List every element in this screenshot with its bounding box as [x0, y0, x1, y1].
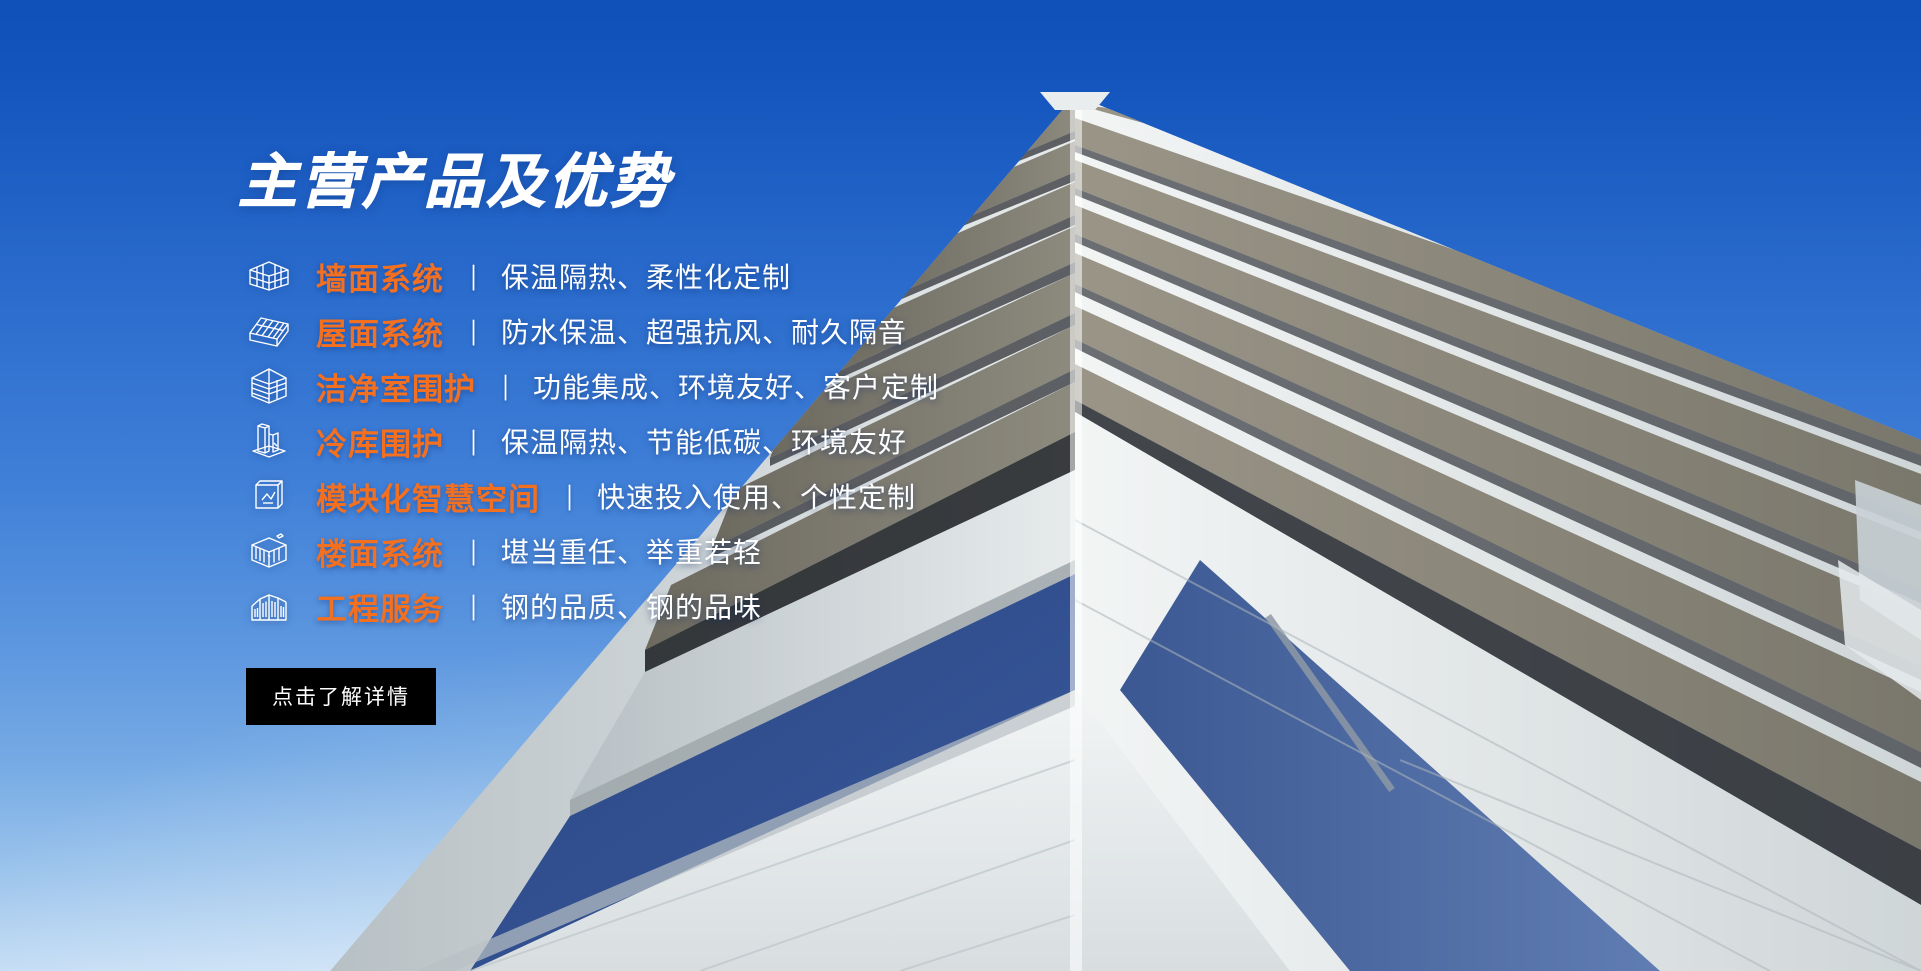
cleanroom-building-icon — [246, 363, 292, 409]
floor-module-icon — [246, 528, 292, 574]
list-item-title: 墙面系统 — [316, 254, 444, 299]
learn-more-button[interactable]: 点击了解详情 — [246, 668, 436, 725]
list-item[interactable]: 墙面系统 丨 保温隔热、柔性化定制 — [236, 249, 1156, 304]
list-item-title: 冷库围护 — [316, 419, 444, 464]
list-item-separator: 丨 — [466, 587, 481, 626]
factory-cluster-icon — [246, 583, 292, 629]
list-item-title: 工程服务 — [316, 584, 444, 629]
list-item-desc: 保温隔热、柔性化定制 — [501, 256, 791, 296]
hero-banner: 主营产品及优势 墙面系统 丨 保温隔热、柔性化定制 — [0, 0, 1921, 971]
list-item-desc: 钢的品质、钢的品味 — [501, 586, 762, 626]
list-item-separator: 丨 — [466, 422, 481, 461]
cold-storage-icon — [246, 418, 292, 464]
list-item-desc: 堪当重任、举重若轻 — [501, 531, 762, 571]
list-item-desc: 快速投入使用、个性定制 — [597, 476, 916, 516]
list-item-desc: 保温隔热、节能低碳、环境友好 — [501, 421, 907, 461]
list-item-separator: 丨 — [498, 367, 513, 406]
page-title: 主营产品及优势 — [238, 150, 1156, 215]
list-item[interactable]: 洁净室围护 丨 功能集成、环境友好、客户定制 — [236, 359, 1156, 414]
hero-content: 主营产品及优势 墙面系统 丨 保温隔热、柔性化定制 — [236, 150, 1156, 725]
list-item[interactable]: 屋面系统 丨 防水保温、超强抗风、耐久隔音 — [236, 304, 1156, 359]
list-item-separator: 丨 — [466, 312, 481, 351]
wall-panel-icon — [246, 253, 292, 299]
list-item-title: 洁净室围护 — [316, 364, 476, 409]
list-item-title: 楼面系统 — [316, 529, 444, 574]
list-item[interactable]: 冷库围护 丨 保温隔热、节能低碳、环境友好 — [236, 414, 1156, 469]
list-item[interactable]: 楼面系统 丨 堪当重任、举重若轻 — [236, 524, 1156, 579]
list-item[interactable]: 工程服务 丨 钢的品质、钢的品味 — [236, 579, 1156, 634]
list-item-separator: 丨 — [466, 532, 481, 571]
list-item[interactable]: 模块化智慧空间 丨 快速投入使用、个性定制 — [236, 469, 1156, 524]
list-item-desc: 防水保温、超强抗风、耐久隔音 — [501, 311, 907, 351]
list-item-desc: 功能集成、环境友好、客户定制 — [533, 366, 939, 406]
list-item-separator: 丨 — [466, 257, 481, 296]
list-item-title: 屋面系统 — [316, 309, 444, 354]
module-cube-icon — [246, 473, 292, 519]
product-list: 墙面系统 丨 保温隔热、柔性化定制 屋面系统 丨 防水保温、超强抗 — [236, 249, 1156, 634]
list-item-title: 模块化智慧空间 — [316, 474, 540, 519]
roof-panel-icon — [246, 308, 292, 354]
list-item-separator: 丨 — [562, 477, 577, 516]
